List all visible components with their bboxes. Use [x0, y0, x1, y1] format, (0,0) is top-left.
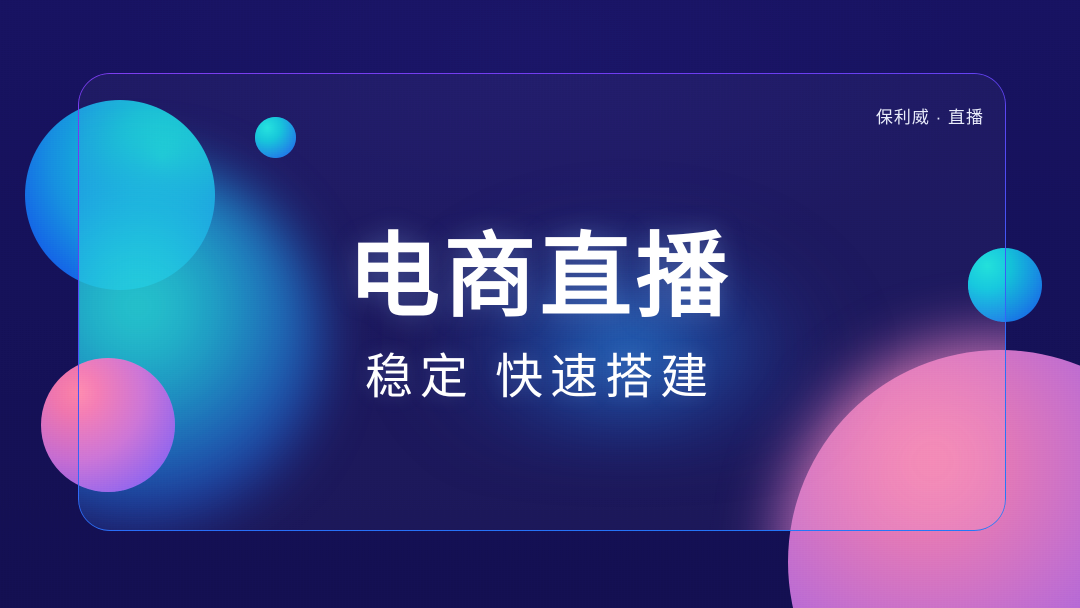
- title-block: 电商直播 稳定 快速搭建: [0, 231, 1080, 407]
- glass-small-sphere: [255, 117, 296, 158]
- brand-label: 保利威 · 直播: [876, 103, 984, 128]
- slide-canvas: 保利威 · 直播 电商直播 稳定 快速搭建: [0, 0, 1080, 608]
- page-title: 电商直播: [0, 231, 1080, 325]
- page-subtitle: 稳定 快速搭建: [0, 337, 1080, 407]
